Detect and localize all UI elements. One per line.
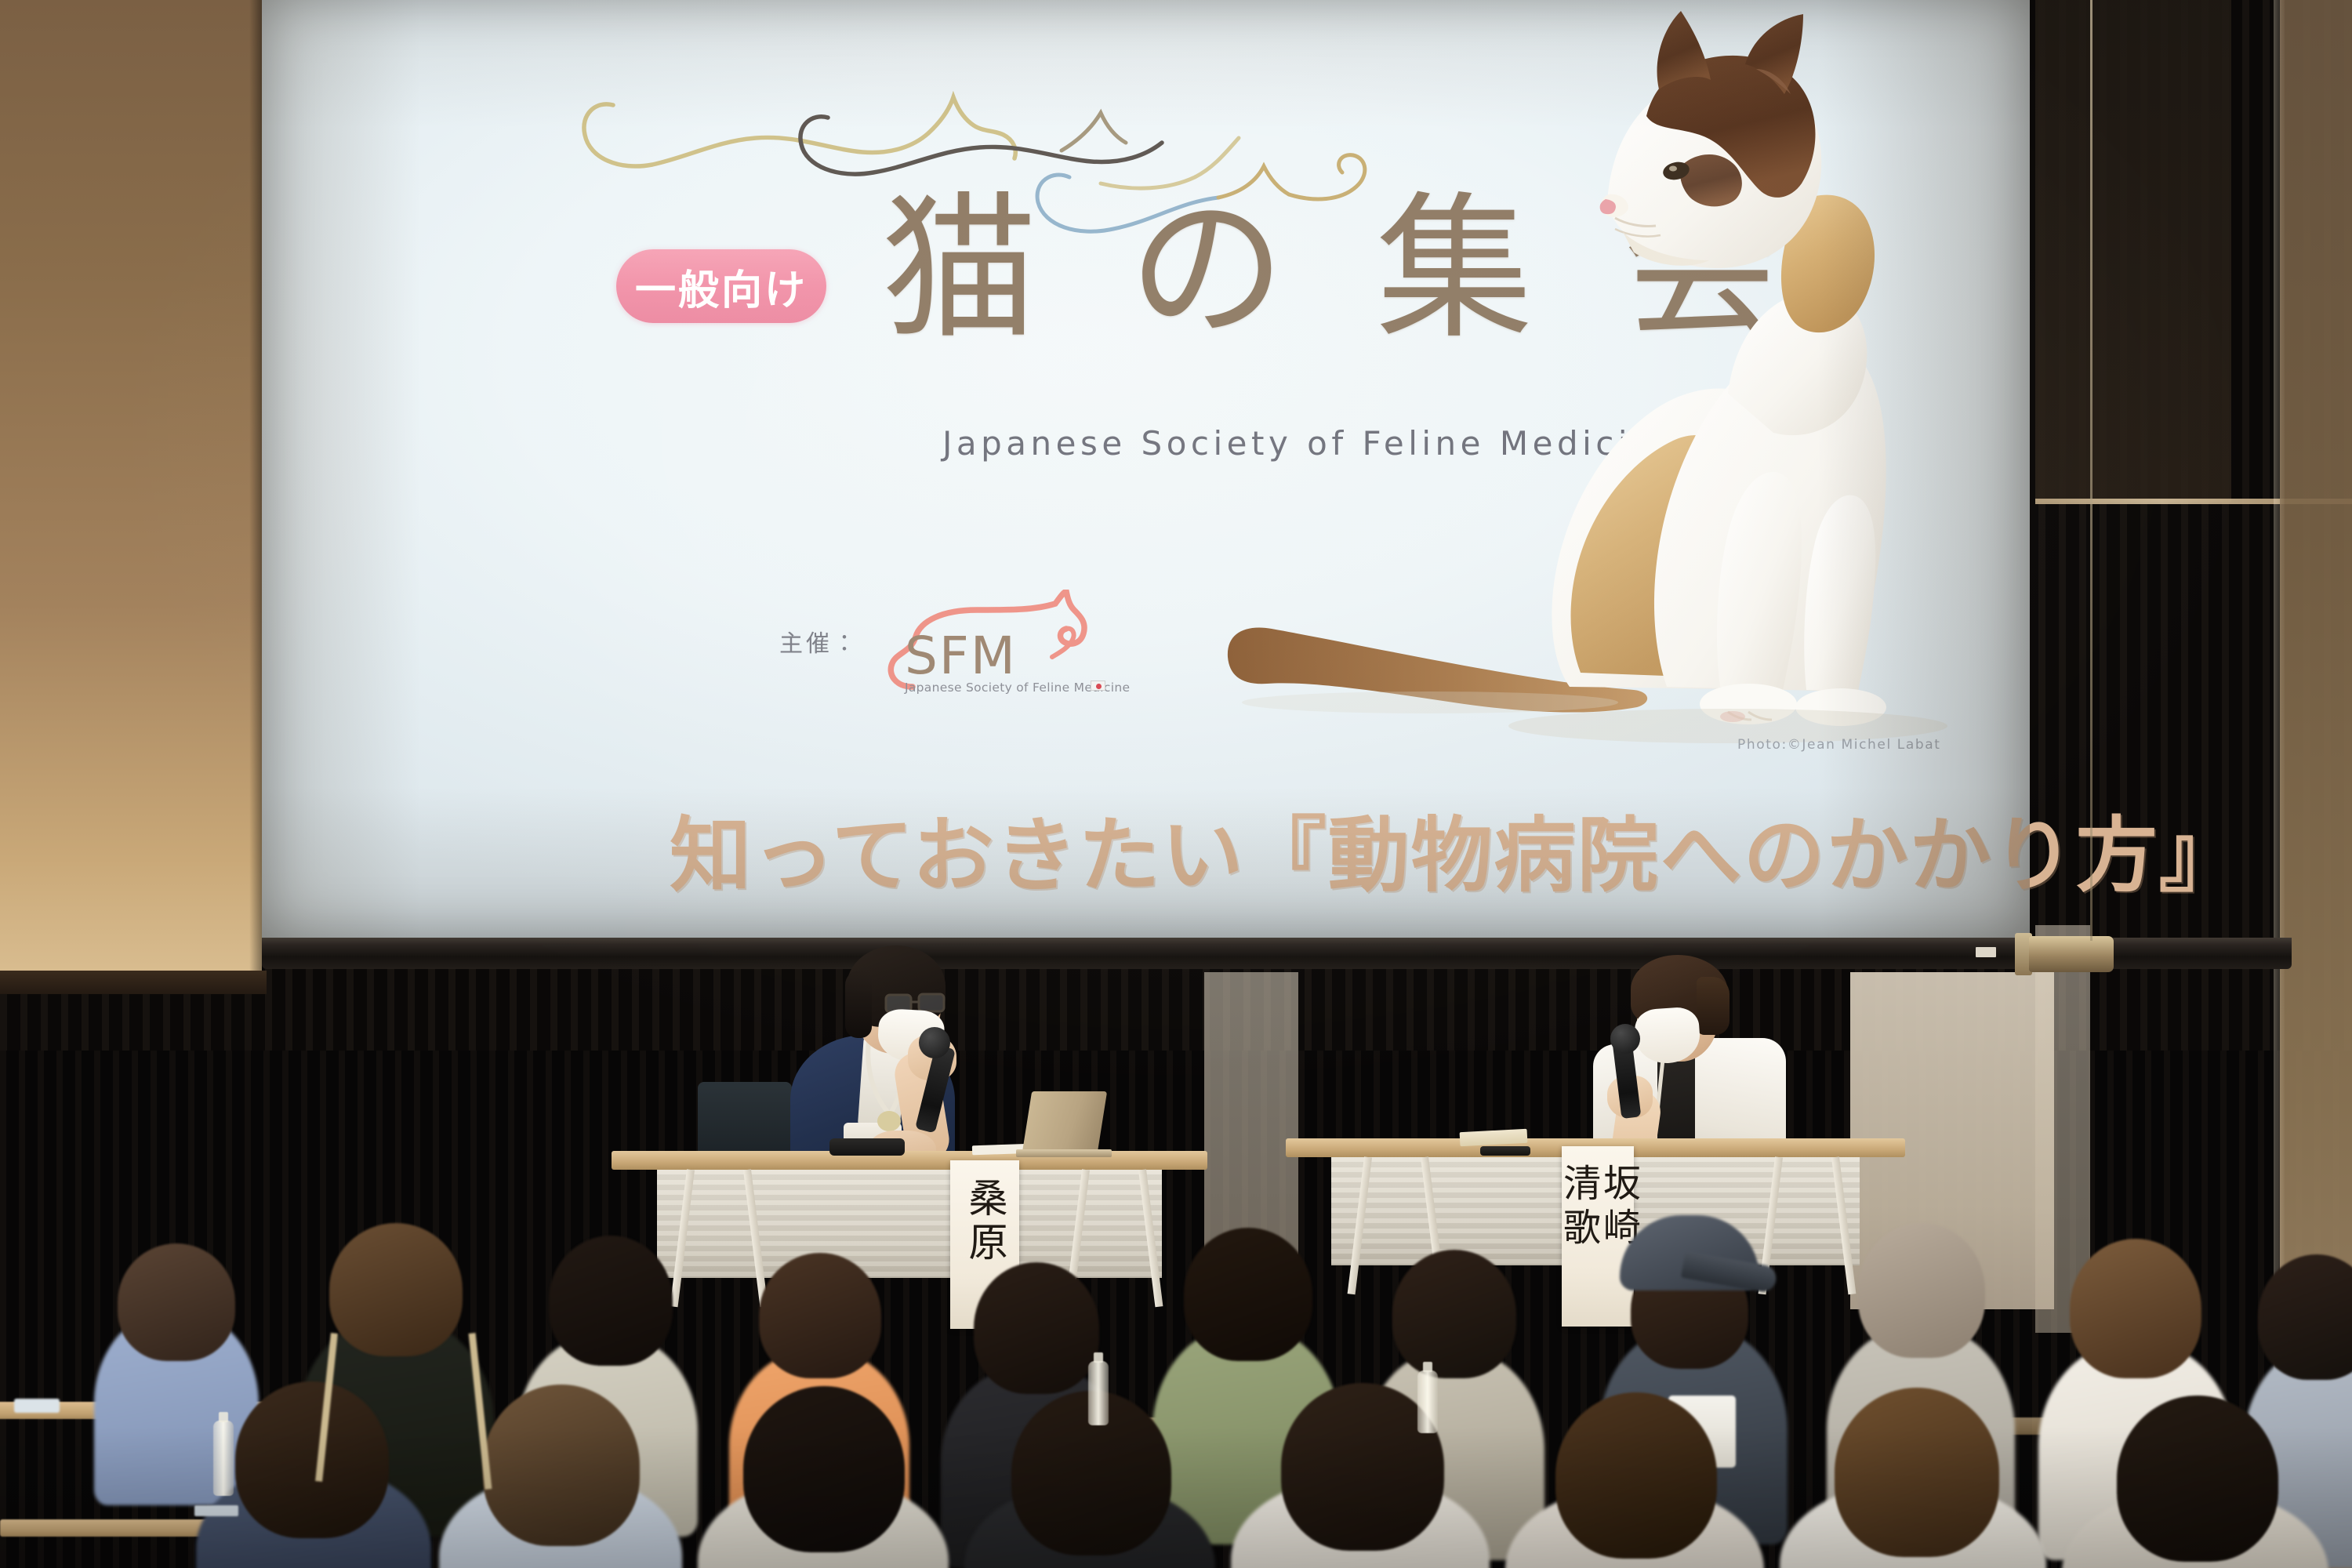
wall-panel-left-base	[0, 971, 267, 994]
water-bottle	[1417, 1370, 1438, 1433]
organizer-prefix-label: 主催：	[779, 624, 859, 659]
speaker-right-hair-side	[1697, 977, 1730, 1035]
microphone-left-capsule	[919, 1027, 950, 1058]
audience-head	[759, 1253, 881, 1378]
audience-section	[0, 1207, 2352, 1568]
japan-flag-icon	[1091, 681, 1105, 691]
table-right-remote[interactable]	[1480, 1146, 1530, 1156]
cat-photograph	[1179, 0, 2010, 773]
speaker-left-hair-side	[845, 971, 872, 1038]
wall-panel-right-upper	[2035, 0, 2231, 502]
audience-head	[974, 1262, 1099, 1394]
water-bottle	[213, 1421, 234, 1496]
audience-badge-label: 一般向け	[635, 257, 808, 316]
table-left-top	[612, 1151, 1207, 1170]
laptop-lid	[1022, 1091, 1107, 1152]
audience-head	[1392, 1250, 1516, 1378]
audience-head	[118, 1243, 235, 1361]
audience-table-item	[194, 1505, 238, 1516]
screen-bar-endcap	[2029, 936, 2114, 972]
projection-screen: 一般向け 猫 の 集 会 Japanese Society of Feline …	[262, 0, 2030, 938]
slide-headline: 知っておきたい『動物病院へのかかり方』	[670, 789, 2242, 907]
audience-head	[743, 1386, 905, 1552]
wall-panel-left-tan	[0, 0, 262, 976]
screen-bar-label	[1976, 947, 1996, 957]
screen-suspension-wire	[2090, 0, 2092, 941]
audience-head	[235, 1381, 389, 1538]
laptop-left[interactable]	[1016, 1091, 1102, 1156]
audience-head	[2258, 1254, 2352, 1380]
audience-head	[2070, 1239, 2201, 1378]
laptop-base	[1016, 1149, 1112, 1157]
lecture-hall-photo: 一般向け 猫 の 集 会 Japanese Society of Feline …	[0, 0, 2352, 1568]
audience-head	[549, 1236, 673, 1366]
audience-head	[1555, 1392, 1717, 1559]
microphone-right-capsule	[1610, 1024, 1640, 1054]
photo-credit-label: Photo:©Jean Michel Labat	[1737, 737, 1941, 753]
audience-head	[1835, 1388, 1999, 1557]
water-bottle	[1088, 1361, 1109, 1425]
presentation-slide: 一般向け 猫 の 集 会 Japanese Society of Feline …	[262, 0, 2030, 938]
audience-head	[329, 1223, 463, 1356]
table-left-pouch	[829, 1138, 905, 1156]
jsfm-wordmark: SFM	[905, 630, 1017, 682]
audience-table-item	[14, 1399, 60, 1413]
audience-head	[1858, 1223, 1985, 1358]
audience-head	[483, 1385, 640, 1546]
organizer-logo-block: 主催： SFM Japanese Society of Feline Medic…	[779, 593, 1093, 695]
audience-head	[1184, 1228, 1312, 1361]
audience-head	[2117, 1396, 2278, 1562]
audience-badge: 一般向け	[616, 249, 826, 323]
